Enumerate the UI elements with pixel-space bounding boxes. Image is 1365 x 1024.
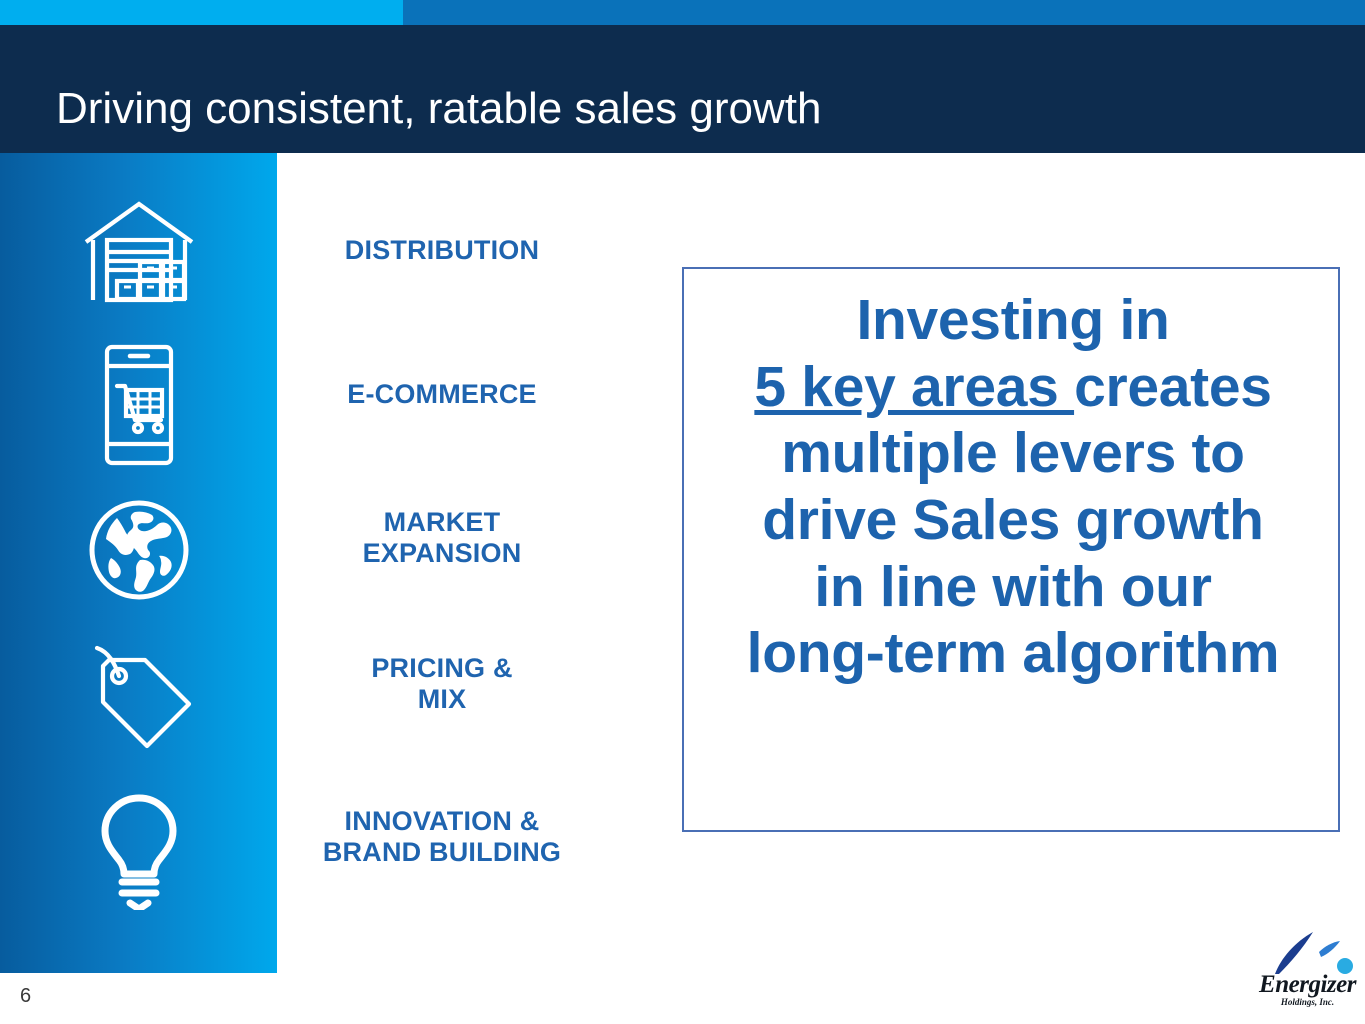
top-accent-band-left xyxy=(0,0,403,25)
callout-line-3: multiple levers to xyxy=(781,421,1244,485)
lever-label-innovation-brand-building: INNOVATION & BRAND BUILDING xyxy=(277,806,607,869)
callout-line-6: long-term algorithm xyxy=(747,621,1280,685)
mobile-shopping-cart-icon xyxy=(95,344,183,466)
lever-icon-slot-market-expansion xyxy=(0,495,277,605)
lever-icon-slot-pricing-mix xyxy=(0,643,277,753)
callout-underlined-phrase: 5 key areas xyxy=(754,355,1074,419)
globe-icon xyxy=(87,498,191,602)
energizer-holdings-subtext: Holdings, Inc. xyxy=(1255,998,1360,1007)
callout-line-5: in line with our xyxy=(814,555,1211,619)
top-accent-band-right xyxy=(403,0,1365,25)
lever-label-distribution: DISTRIBUTION xyxy=(277,235,607,266)
lever-label-market-expansion: MARKET EXPANSION xyxy=(277,507,607,570)
lever-icon-slot-distribution xyxy=(0,197,277,307)
callout-box: Investing in 5 key areas creates multipl… xyxy=(682,267,1340,832)
callout-line-1: Investing in xyxy=(856,288,1169,352)
warehouse-icon xyxy=(80,200,198,304)
page-number: 6 xyxy=(20,985,31,1008)
lever-icon-slot-ecommerce xyxy=(0,343,277,467)
slide-title-bar: Driving consistent, ratable sales growth xyxy=(0,25,1365,153)
lever-label-ecommerce: E-COMMERCE xyxy=(277,379,607,410)
lever-icon-slot-innovation xyxy=(0,791,277,911)
lever-icon-sidebar xyxy=(0,153,277,973)
lever-label-pricing-mix: PRICING & MIX xyxy=(277,653,607,716)
callout-text: Investing in 5 key areas creates multipl… xyxy=(684,287,1342,687)
energizer-wordmark: Energizer xyxy=(1255,972,1360,997)
lightbulb-icon xyxy=(94,792,184,910)
price-tag-icon xyxy=(81,644,197,752)
callout-line-4: drive Sales growth xyxy=(762,488,1263,552)
energizer-logo: Energizer Holdings, Inc. xyxy=(1255,928,1360,1012)
page-title: Driving consistent, ratable sales growth xyxy=(56,87,821,131)
top-accent-band xyxy=(0,0,1365,25)
callout-line-2-rest: creates xyxy=(1074,355,1272,419)
energizer-swoosh-icon xyxy=(1255,928,1360,976)
